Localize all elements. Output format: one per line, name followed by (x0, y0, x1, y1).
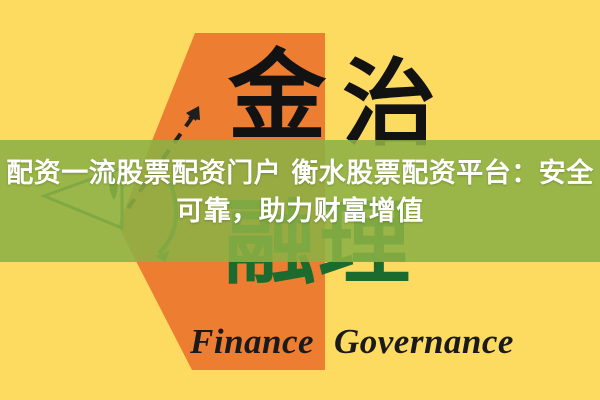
background-character-zhi: 治 (342, 58, 436, 152)
english-word-governance: Governance (334, 322, 514, 362)
english-word-finance: Finance (190, 322, 314, 362)
background-character-jin: 金 (228, 48, 326, 146)
banner-image: 金 治 融 理 Finance Governance 配资一流股票配资门户 衡水… (0, 0, 600, 400)
headline-line-1: 配资一流股票配资门户 衡水股票配资平台：安全 (0, 155, 600, 193)
headline-text: 配资一流股票配资门户 衡水股票配资平台：安全 可靠，助力财富增值 (0, 155, 600, 231)
headline-line-2: 可靠，助力财富增值 (0, 193, 600, 231)
